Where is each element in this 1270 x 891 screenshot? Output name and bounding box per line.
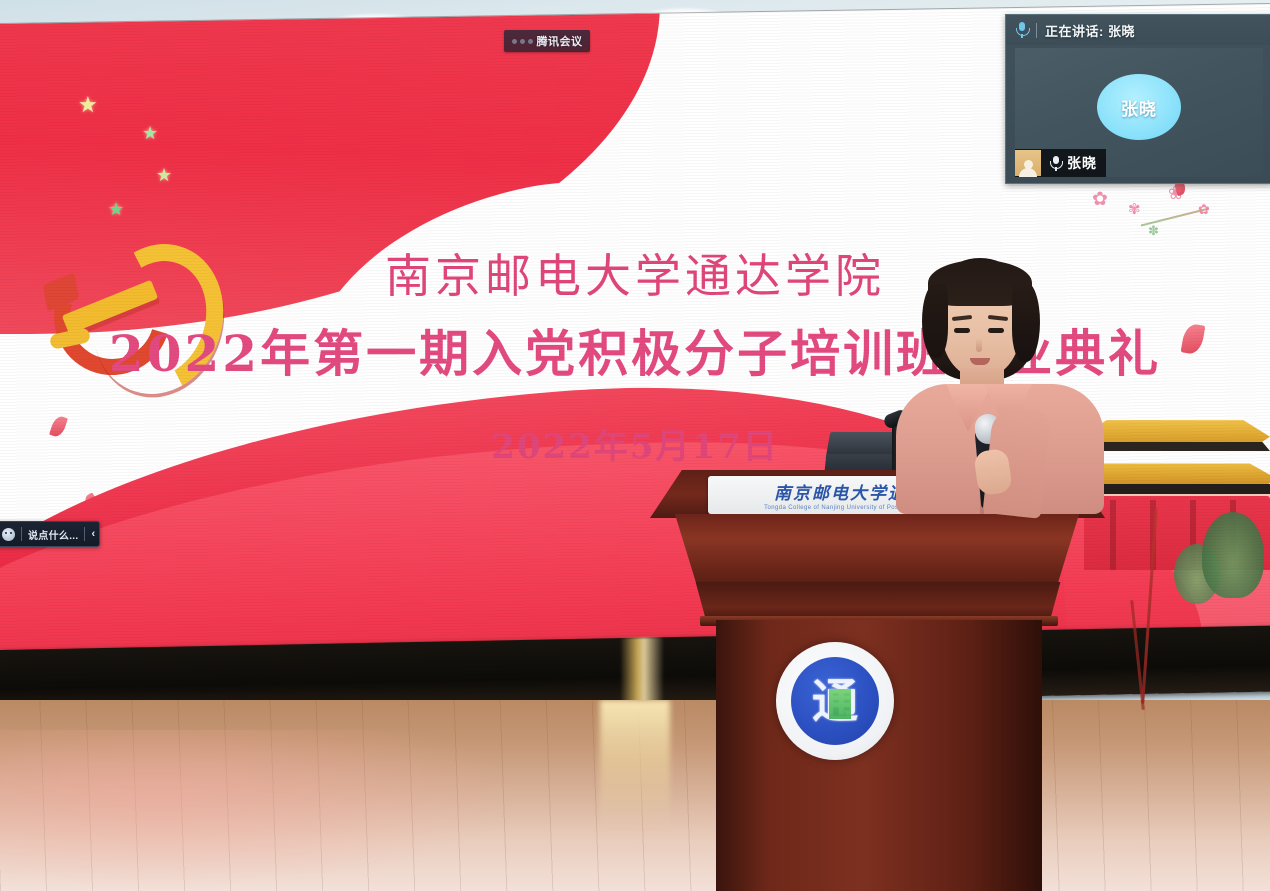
chat-input-bar[interactable]: 说点什么... ‹ xyxy=(0,521,100,547)
tencent-meeting-titlebar[interactable]: 腾讯会议 xyxy=(504,30,590,52)
person-avatar-icon xyxy=(1015,150,1041,176)
speaker-person xyxy=(880,258,1120,508)
blossom-icon: ✽ xyxy=(1148,224,1159,237)
blossom-icon: ✿ xyxy=(1198,202,1210,216)
blossom-icon: ✿ xyxy=(1092,190,1108,209)
video-panel-header: 正在讲话: 张晓 xyxy=(1006,15,1270,45)
divider xyxy=(1036,23,1037,38)
chat-input-placeholder[interactable]: 说点什么... xyxy=(28,527,78,542)
podium: 南京邮电大学通达学院 Tongda College of Nanjing Uni… xyxy=(640,470,1140,891)
app-title: 腾讯会议 xyxy=(537,33,583,49)
flag-star-icon: ★ xyxy=(0,114,1,166)
window-controls-icon[interactable] xyxy=(512,39,533,44)
blossom-icon: ✾ xyxy=(1128,202,1141,217)
video-tile[interactable]: 张晓 张晓 xyxy=(1015,48,1263,177)
flag-star-icon: ★ xyxy=(78,94,98,116)
divider xyxy=(21,527,22,541)
divider xyxy=(84,527,85,541)
microphone-icon xyxy=(1015,22,1028,38)
flag-star-icon: ★ xyxy=(108,200,124,218)
university-seal-icon: 通 xyxy=(776,642,894,760)
screenshot-root: ★ ★ ★ ★ ★ ✿ ✾ ❀ ✿ ✽ xyxy=(0,0,1270,891)
video-panel[interactable]: 正在讲话: 张晓 张晓 张晓 xyxy=(1005,14,1270,184)
participant-name: 张晓 xyxy=(1067,153,1097,173)
avatar-initials: 张晓 xyxy=(1121,95,1157,120)
flag-star-icon: ★ xyxy=(156,166,172,184)
podium-base xyxy=(716,620,1042,891)
avatar: 张晓 xyxy=(1097,74,1181,140)
collapse-chevron-icon[interactable]: ‹ xyxy=(91,529,95,540)
emoji-smiley-icon[interactable] xyxy=(2,528,15,541)
flag-star-icon: ★ xyxy=(142,124,158,142)
participant-namebar: 张晓 xyxy=(1015,149,1106,177)
tree-icon xyxy=(1202,512,1264,598)
microphone-icon xyxy=(1050,156,1062,171)
speaking-status-label: 正在讲话: 张晓 xyxy=(1045,21,1135,40)
podium-face xyxy=(662,514,1092,584)
